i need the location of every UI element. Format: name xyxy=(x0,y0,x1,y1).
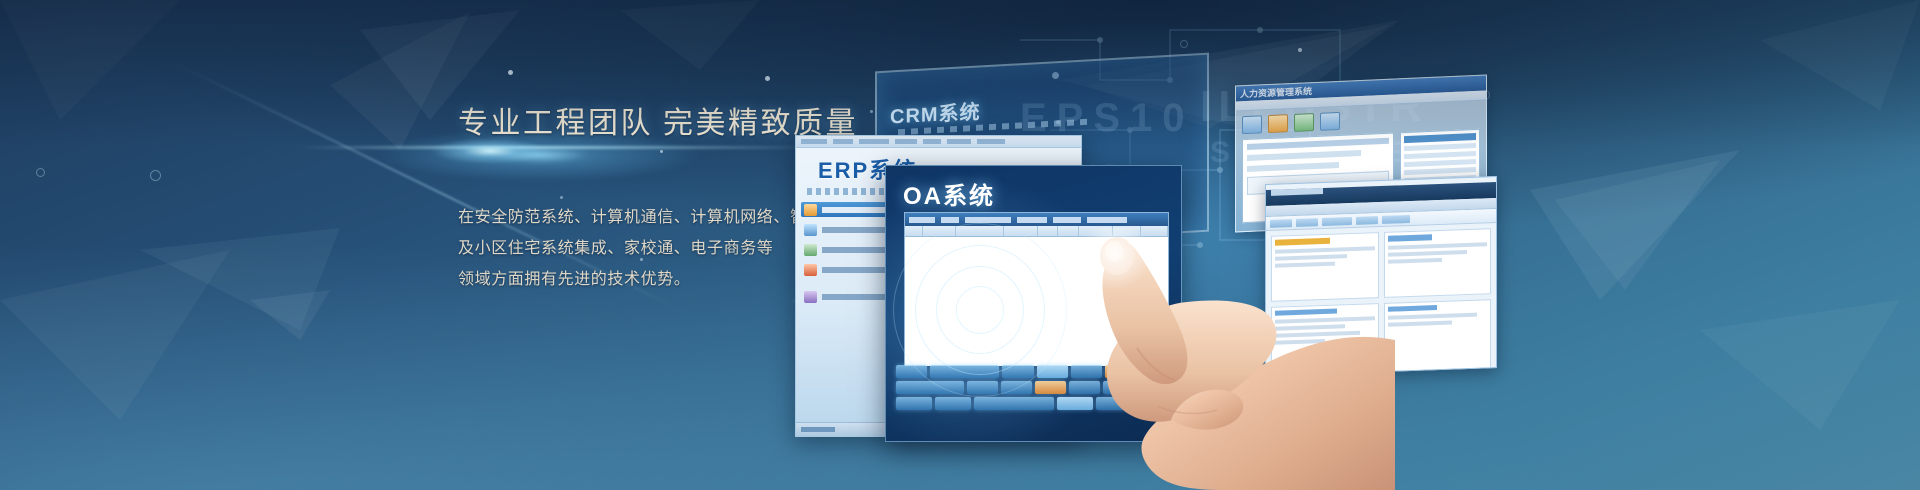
hero-banner: 专业工程团队 完美精致质量 在安全防范系统、计算机通信、计算机网络、智能大厦 及… xyxy=(0,0,1920,490)
hand-touching-screen xyxy=(925,228,1395,490)
key[interactable] xyxy=(896,365,927,378)
database-icon xyxy=(804,264,817,276)
oa-window-label: OA系统 xyxy=(903,176,995,211)
sparkle-dot xyxy=(765,76,770,81)
oa-grid-toolbar[interactable] xyxy=(905,213,1168,226)
hr-toolbar-icon[interactable] xyxy=(1242,115,1262,134)
sparkle-dot xyxy=(508,70,513,75)
software-screens-montage: CRM系统 EPS10 HAND ILLUSTR SAMPLE 人力资源管理系统 xyxy=(780,0,1920,490)
data-panel-right xyxy=(1384,228,1492,298)
document-icon xyxy=(804,224,817,236)
hr-toolbar-icon[interactable] xyxy=(1268,114,1288,133)
hr-toolbar-icon[interactable] xyxy=(1320,112,1340,131)
bokeh-circle xyxy=(36,168,45,177)
settings-icon xyxy=(804,291,817,303)
erp-window-menubar[interactable] xyxy=(796,136,1081,148)
folder-icon xyxy=(804,204,817,216)
data-panel-bottom-right xyxy=(1384,299,1492,376)
bokeh-circle xyxy=(150,170,161,181)
hr-toolbar-icon[interactable] xyxy=(1294,113,1314,132)
chart-icon xyxy=(804,244,817,256)
